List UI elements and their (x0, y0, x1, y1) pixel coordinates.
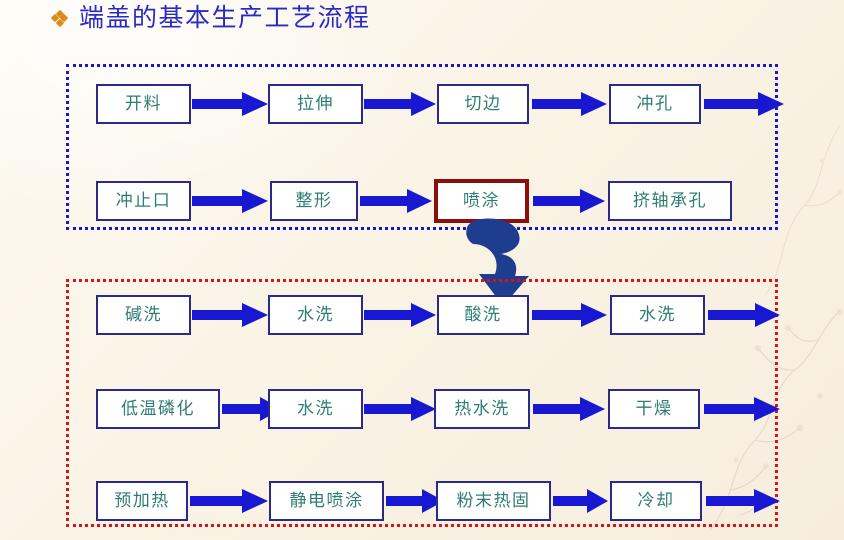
node-row2-4[interactable]: 挤轴承孔 (608, 181, 732, 221)
arrow-row1-1 (192, 91, 268, 117)
arrow-row2-3 (533, 188, 605, 214)
node-row5-3[interactable]: 粉末热固 (436, 481, 551, 521)
node-row4-4[interactable]: 干燥 (608, 389, 700, 429)
arrow-row1-2 (364, 91, 436, 117)
arrow-row3-2 (364, 302, 436, 328)
node-row4-2[interactable]: 水洗 (268, 389, 363, 429)
page-title: 端盖的基本生产工艺流程 (79, 2, 371, 34)
node-row5-1[interactable]: 预加热 (96, 481, 188, 521)
arrow-row2-2 (360, 188, 432, 214)
arrow-row5-exit (706, 488, 780, 514)
node-row3-1[interactable]: 碱洗 (96, 295, 191, 335)
slide-canvas: 端盖的基本生产工艺流程 开料 拉伸 切边 冲孔 冲止口 整形 喷涂 挤轴承孔 碱… (0, 0, 844, 540)
node-row5-4[interactable]: 冷却 (610, 481, 702, 521)
arrow-row3-1 (192, 302, 268, 328)
arrow-row4-2 (364, 396, 436, 422)
node-row2-1[interactable]: 冲止口 (96, 181, 191, 221)
arrow-row3-3 (532, 302, 607, 328)
arrow-row1-exit (704, 91, 784, 117)
node-row1-4[interactable]: 冲孔 (609, 84, 701, 124)
node-row3-2[interactable]: 水洗 (268, 295, 363, 335)
diamond-cluster-icon (52, 11, 67, 26)
node-row4-1[interactable]: 低温磷化 (96, 389, 220, 429)
node-row4-3[interactable]: 热水洗 (434, 389, 530, 429)
arrow-row3-exit (708, 302, 780, 328)
arrow-row2-1 (192, 188, 268, 214)
arrow-row4-exit (704, 396, 780, 422)
node-row3-3[interactable]: 酸洗 (437, 295, 529, 335)
node-row3-4[interactable]: 水洗 (610, 295, 705, 335)
arrow-row5-1 (190, 488, 268, 514)
node-row1-3[interactable]: 切边 (437, 84, 529, 124)
slide-title-row: 端盖的基本生产工艺流程 (52, 2, 371, 34)
arrow-row1-3 (532, 91, 607, 117)
arrow-row5-3 (553, 488, 608, 514)
arrow-row4-3 (533, 396, 605, 422)
node-row1-2[interactable]: 拉伸 (268, 84, 363, 124)
node-row5-2[interactable]: 静电喷涂 (269, 481, 384, 521)
node-row2-2[interactable]: 整形 (270, 181, 358, 221)
node-row1-1[interactable]: 开料 (96, 84, 191, 124)
